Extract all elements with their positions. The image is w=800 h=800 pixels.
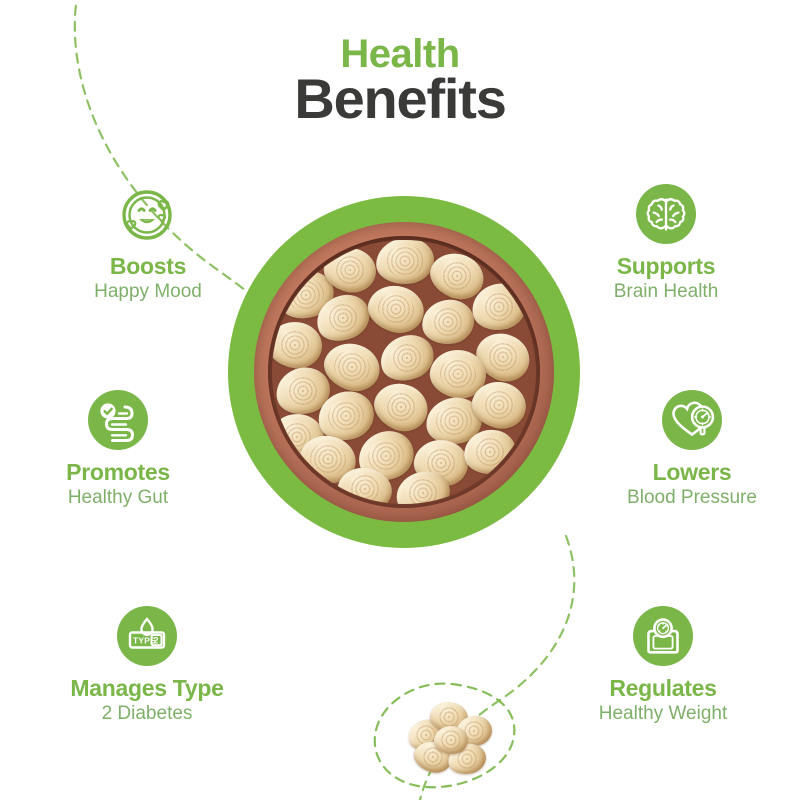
benefit-headline: Boosts (33, 254, 263, 280)
benefit-headline: Lowers (577, 460, 800, 486)
walnut-cluster-nuts (406, 700, 494, 774)
benefit-subline: Brain Health (551, 281, 781, 304)
benefit-promotes-healthy-gut[interactable]: Promotes Healthy Gut (3, 390, 233, 510)
infographic-canvas: Health Benefits (0, 0, 800, 800)
heart-gauge-icon (662, 390, 722, 450)
benefit-subline: Healthy Weight (548, 703, 778, 726)
intestine-check-icon (88, 390, 148, 450)
benefit-boosts-happy-mood[interactable]: Boosts Happy Mood (33, 184, 263, 304)
benefit-subline: 2 Diabetes (32, 703, 262, 726)
weight-scale-icon (633, 606, 693, 666)
walnut-bowl-image (228, 196, 580, 548)
page-title: Health Benefits (0, 34, 800, 127)
benefit-subline: Blood Pressure (577, 487, 800, 510)
benefit-lowers-blood-pressure[interactable]: Lowers Blood Pressure (577, 390, 800, 510)
benefit-manages-type-2-diabetes[interactable]: TYPE 2 Manages Type 2 Diabetes (32, 606, 262, 726)
benefit-supports-brain-health[interactable]: Supports Brain Health (551, 184, 781, 304)
svg-text:2: 2 (153, 636, 158, 646)
title-line-benefits: Benefits (0, 71, 800, 127)
smiley-hearts-icon (118, 184, 178, 244)
benefit-subline: Healthy Gut (3, 487, 233, 510)
benefit-regulates-healthy-weight[interactable]: Regulates Healthy Weight (548, 606, 778, 726)
benefit-headline: Supports (551, 254, 781, 280)
benefit-headline: Regulates (548, 676, 778, 702)
walnut-cluster-image (378, 682, 522, 792)
brain-icon (636, 184, 696, 244)
benefit-headline: Manages Type (32, 676, 262, 702)
type-2-badge-icon: TYPE 2 (117, 606, 177, 666)
benefit-subline: Happy Mood (33, 281, 263, 304)
walnut-halves-field (272, 240, 536, 504)
benefit-headline: Promotes (3, 460, 233, 486)
